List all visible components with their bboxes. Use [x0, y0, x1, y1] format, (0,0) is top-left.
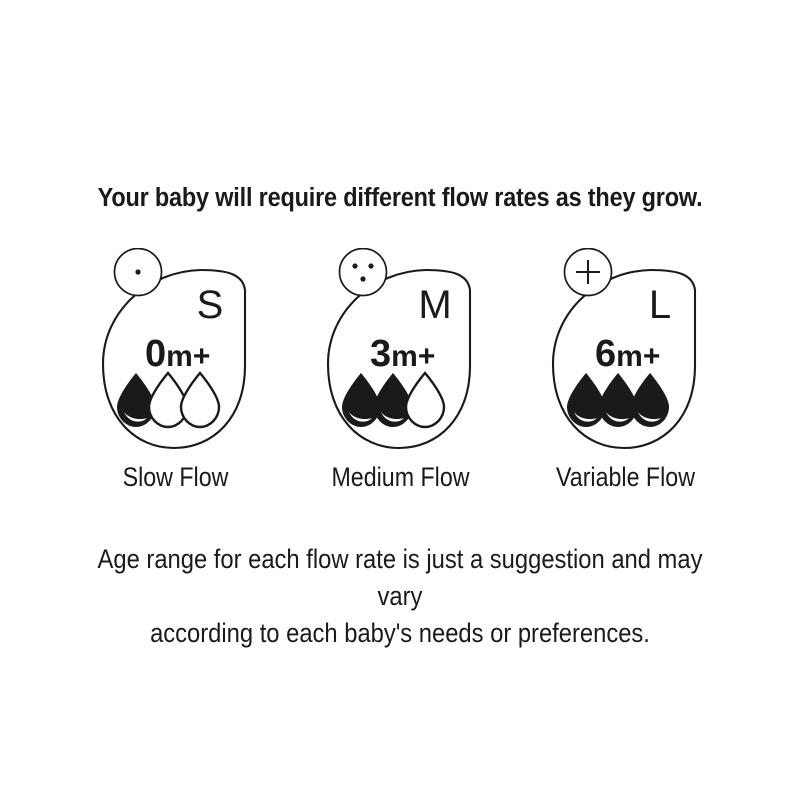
hole-indicator-circle: [339, 249, 386, 296]
footnote: Age range for each flow rate is just a s…: [92, 541, 708, 652]
size-letter-medium: M: [418, 283, 451, 327]
flow-rate-card-large[interactable]: L 6m+: [533, 248, 718, 513]
footnote-line-2: according to each baby's needs or prefer…: [92, 615, 708, 652]
droplet-group-large: [567, 373, 669, 427]
droplet-group-medium: [342, 373, 444, 427]
flow-label-medium: Medium Flow: [320, 462, 479, 493]
nipple-teardrop-art-small: S 0m+: [83, 248, 268, 460]
nipple-teardrop-art-medium: M 3m+: [308, 248, 493, 460]
nipple-teardrop-art-large: L 6m+: [533, 248, 718, 460]
age-label-medium: 3m+: [370, 333, 435, 375]
flow-rate-card-medium[interactable]: M 3m+: [308, 248, 493, 513]
droplet-group-small: [117, 373, 219, 427]
flow-label-large: Variable Flow: [545, 462, 704, 493]
flow-rate-card-row: S 0m+: [0, 248, 800, 513]
one-dot-icon: [135, 269, 140, 274]
footnote-line-1: Age range for each flow rate is just a s…: [92, 541, 708, 615]
age-label-large: 6m+: [595, 333, 660, 375]
page-title: Your baby will require different flow ra…: [32, 184, 768, 213]
flow-label-small: Slow Flow: [95, 462, 254, 493]
age-label-small: 0m+: [145, 333, 210, 375]
size-letter-large: L: [648, 283, 670, 327]
size-letter-small: S: [196, 283, 223, 327]
flow-rate-card-small[interactable]: S 0m+: [83, 248, 268, 513]
flow-rate-infographic: Your baby will require different flow ra…: [0, 0, 800, 800]
